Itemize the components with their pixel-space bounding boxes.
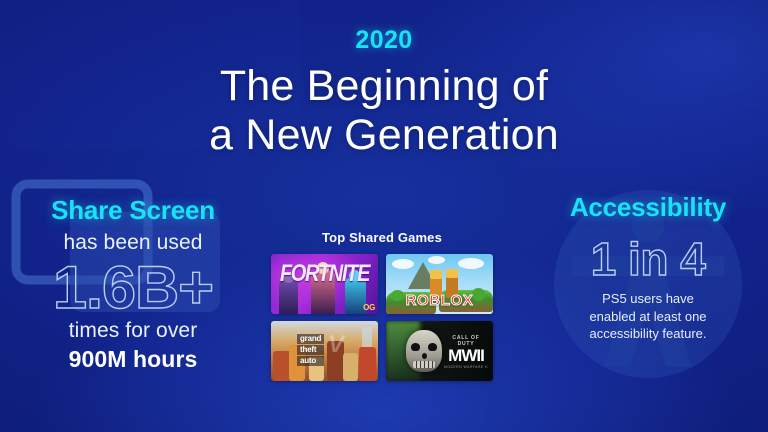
page-title-line-1: The Beginning of	[0, 62, 768, 111]
share-screen-stat: 1.6B+	[6, 257, 261, 318]
top-shared-games-panel: Top Shared Games FORTNITE OG	[262, 230, 502, 381]
accessibility-body-line-3: accessibility feature.	[534, 325, 762, 342]
game-tile-grand-theft-auto-v[interactable]: V grand theft auto	[271, 321, 378, 381]
gta-logo-line-3: auto	[297, 356, 324, 366]
top-shared-games-title: Top Shared Games	[262, 230, 502, 245]
share-screen-line-3: 900M hours	[8, 346, 258, 373]
slide-header: 2020 The Beginning of a New Generation	[0, 26, 768, 160]
page-title-line-2: a New Generation	[0, 111, 768, 160]
gta-logo-line-2: theft	[297, 345, 324, 355]
accessibility-body-line-2: enabled at least one	[534, 308, 762, 325]
cod-skull-mask-icon	[406, 330, 442, 372]
roblox-character-head-1	[430, 270, 442, 279]
gta-logo: grand theft auto	[297, 334, 324, 366]
infographic-slide: 2020 The Beginning of a New Generation S…	[0, 0, 768, 432]
cod-skull-nose	[422, 353, 427, 359]
roblox-cloud-2	[458, 258, 484, 269]
game-tile-grid: FORTNITE OG ROBLOX	[262, 254, 502, 381]
gta-logo-line-1: grand	[297, 334, 324, 344]
cod-skull-eye-right	[428, 343, 437, 351]
year-label: 2020	[0, 26, 768, 55]
share-screen-line-1: has been used	[8, 231, 258, 255]
gta-figure-5	[359, 347, 376, 381]
gta-figure-4	[343, 353, 358, 381]
share-screen-heading: Share Screen	[8, 195, 258, 226]
page-title: The Beginning of a New Generation	[0, 62, 768, 160]
accessibility-panel: Accessibility 1 in 4 PS5 users have enab…	[534, 192, 762, 342]
fortnite-logo: FORTNITE	[274, 261, 375, 288]
roblox-logo: ROBLOX	[386, 292, 493, 309]
accessibility-stat: 1 in 4	[534, 235, 762, 283]
share-screen-panel: Share Screen has been used 1.6B+ times f…	[8, 195, 258, 373]
accessibility-heading: Accessibility	[534, 192, 762, 223]
cod-skull-eye-left	[411, 343, 420, 351]
accessibility-body-line-1: PS5 users have	[534, 290, 762, 307]
fortnite-badge: OG	[363, 303, 375, 312]
accessibility-body: PS5 users have enabled at least one acce…	[534, 290, 762, 342]
game-tile-roblox[interactable]: ROBLOX	[386, 254, 493, 314]
cod-logo: CALL OF DUTY MWII MODERN WARFARE II	[443, 335, 489, 369]
cod-logo-main: MWII	[443, 347, 489, 364]
roblox-character-head-2	[446, 269, 458, 278]
share-screen-line-2: times for over	[8, 319, 258, 343]
game-tile-call-of-duty-mwii[interactable]: CALL OF DUTY MWII MODERN WARFARE II	[386, 321, 493, 381]
gta-logo-numeral: V	[328, 331, 344, 359]
game-tile-fortnite[interactable]: FORTNITE OG	[271, 254, 378, 314]
cod-skull-teeth	[413, 361, 435, 368]
cod-logo-sub: MODERN WARFARE II	[443, 365, 489, 369]
